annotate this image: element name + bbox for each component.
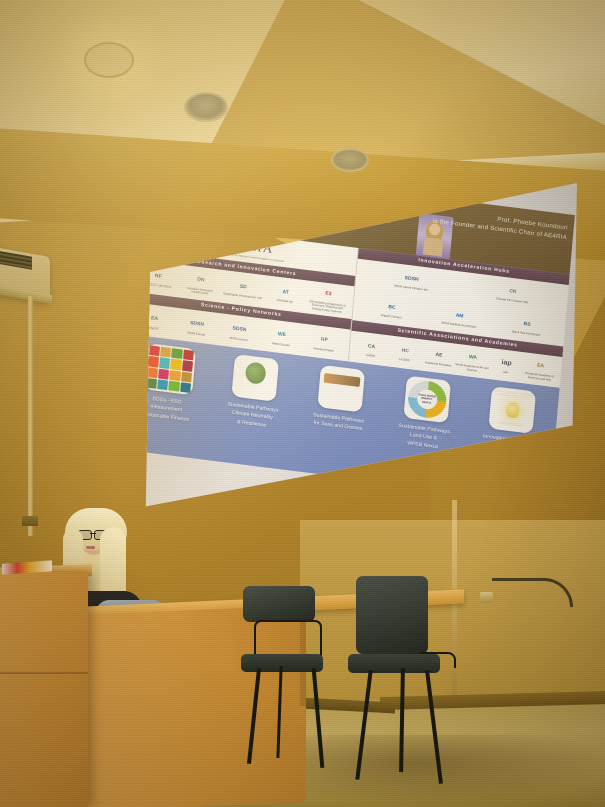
caption-line: Innovation Acceleration [483, 433, 537, 448]
innovation-word-label: Innovation [489, 419, 534, 430]
slide-content: 👥 200 PEOPLE 🛠 100 PROJECTS 🎤 150 [118, 161, 576, 503]
domain-innovation-education-caption: Innovation Acceleration Education Upskil… [481, 433, 537, 464]
nexus-core-label: FOOD WATER ENERGY NEXUS [416, 388, 438, 410]
domain-land-use-wfeb: FOOD WATER ENERGY NEXUS Sustainable Path… [382, 373, 469, 454]
athena-rc-label: ATHENA RC [276, 299, 293, 304]
chair-right-arm [420, 652, 456, 668]
domain-climate-neutrality-caption: Sustainable Pathways Climate Neutrality … [226, 401, 279, 431]
conference-room-photo: 👥 200 PEOPLE 🛠 100 PROJECTS 🎤 150 [0, 0, 605, 807]
climate-tree-icon [232, 354, 280, 402]
sdsn-europe-logo: SDSN SDSN Europe [176, 314, 218, 338]
iap-logo: iap IAP [489, 354, 524, 377]
sdsn-greece-mark: SDSN [230, 321, 248, 338]
iap-mark: iap [497, 355, 515, 372]
chair-left-leg [312, 668, 324, 768]
stat-publications-caption: PUBLICATIONS [303, 215, 359, 226]
aquatic-maritime-accelerator-label: AMVA Maritime Accelerator [441, 322, 476, 330]
sdsn-global-climate-hub-logo: SDSN SDSN Global Climate Hub [391, 269, 431, 293]
domain-seas-oceans: Sustainable Pathways for Seas and Oceans [297, 362, 384, 435]
energy-policy-unit-logo: E3 E3-Modelling Department of Economic, … [307, 284, 350, 314]
aquatic-maritime-accelerator-logo: AM AMVA Maritime Accelerator [439, 306, 479, 330]
hcera-label: HCERA [399, 358, 409, 363]
resilient-planet-logo: RP Resilient Planet [303, 330, 345, 354]
danubius-research-label: Danubius Research Infrastructure [179, 286, 220, 298]
stat-funding: € 500k FUNDING [353, 185, 412, 226]
caeri-logo: CA CAERI [354, 337, 389, 360]
ac-vent [0, 250, 32, 270]
eaere-label: EAERE [149, 326, 159, 331]
energy-policy-unit-label: E3-Modelling Department of Economic, Reg… [307, 300, 348, 315]
stat-projects-value: 100 [202, 204, 259, 223]
water-europe-label: Water Europe [272, 342, 290, 348]
sdsn-global-climate-hub-label: SDSN Global Climate Hub [394, 285, 428, 293]
ocean-ship-icon [317, 365, 365, 413]
downlight-unlit-2-icon [331, 148, 369, 172]
danubius-research-logo: DN Danubius Research Infrastructure [179, 270, 221, 297]
brigaid-connect-logo: BC Brigaid Connect [372, 298, 412, 322]
eaere-logo: EA EAERE [133, 309, 175, 333]
chair-left-back [243, 586, 315, 622]
stat-people-value: 200 [154, 205, 211, 224]
podium [0, 572, 88, 807]
presenter-lips [86, 546, 95, 549]
reflect-laboratory-logo: RF ReFLECT Laboratory [137, 267, 179, 291]
climate-kic-greece-hub-label: Climate KIC Greece Hub [496, 297, 528, 304]
projects-icon: 🛠 [223, 188, 241, 206]
domain-sdg-esg: SDGs - ESG measurement Sustainable Finan… [125, 341, 213, 426]
resilient-planet-mark: RP [315, 332, 333, 349]
caeri-label: CAERI [366, 354, 375, 358]
euro-icon: € [374, 188, 392, 206]
chair-right-leg [355, 670, 372, 780]
screen-surface: 👥 200 PEOPLE 🛠 100 PROJECTS 🎤 150 [137, 183, 577, 513]
sdsn-europe-mark: SDSN [188, 316, 206, 333]
sustainable-development-unit-label: Sustainable Development Unit [223, 293, 262, 301]
sustainable-development-unit-logo: SD Sustainable Development Unit [222, 277, 264, 301]
stat-people-caption: PEOPLE [154, 216, 210, 227]
world-academy-art-science-logo: WA World Academy of Art and Science [455, 348, 491, 374]
stat-projects: 🛠 100 PROJECTS [201, 186, 260, 227]
stat-funding-value: 500k [354, 203, 411, 222]
chair-left-leg [276, 666, 282, 758]
downlight-unlit-1-icon [184, 92, 228, 122]
black-sea-accelerator-logo: BS Black Sea Accelerator [507, 315, 547, 339]
power-outlet-left-icon [22, 516, 38, 526]
stat-publications: 📖 543 PUBLICATIONS [303, 186, 362, 227]
nexus-ring: FOOD WATER ENERGY NEXUS [406, 379, 447, 420]
wall-conduit [28, 296, 33, 536]
athena-rc-logo: AT ATHENA RC [264, 282, 306, 306]
chair-right[interactable] [348, 576, 478, 776]
domain-climate-neutrality: Sustainable Pathways Climate Neutrality … [211, 352, 298, 433]
sdsn-europe-label: SDSN Europe [187, 331, 205, 337]
stat-conferences: 🎤 150 CONFERENCES ORGANIZED [251, 182, 310, 227]
food-water-energy-nexus-icon: FOOD WATER ENERGY NEXUS [403, 375, 451, 423]
world-academy-art-science-label: World Academy of Art and Science [455, 364, 489, 375]
sdsn-greece-label: SDSN Greece [229, 336, 248, 342]
podium-seam [0, 672, 88, 674]
chair-left[interactable] [238, 586, 348, 766]
stat-publications-value: 543 [303, 204, 360, 223]
stat-conferences-value: 150 [252, 200, 309, 219]
water-europe-mark: WE [273, 326, 291, 343]
projection-screen: 👥 200 PEOPLE 🛠 100 PROJECTS 🎤 150 [137, 183, 577, 513]
european-academy-label: European Academy of Sciences and Arts [522, 372, 556, 383]
downlight-lit-icon [84, 42, 134, 78]
caption-line: Education [482, 441, 536, 456]
stat-projects-caption: PROJECTS [201, 215, 257, 226]
chair-right-leg [399, 668, 404, 772]
academia-europaea-logo: AE Academia Europaea [421, 346, 456, 369]
resilient-planet-label: Resilient Planet [313, 347, 333, 353]
hcera-logo: HC HCERA [387, 341, 422, 364]
iap-label: IAP [503, 371, 508, 375]
chair-right-leg [425, 670, 443, 784]
domain-sdg-esg-caption: SDGs - ESG measurement Sustainable Finan… [142, 394, 191, 424]
water-europe-logo: WE Water Europe [261, 325, 303, 349]
academia-europaea-label: Academia Europaea [425, 361, 451, 368]
reflect-laboratory-label: ReFLECT Laboratory [144, 283, 172, 290]
innovation-bulb-icon: Solution Inspiration Intelligence Creati… [489, 386, 537, 434]
chair-left-leg [247, 668, 261, 764]
domain-innovation-education: Solution Inspiration Intelligence Creati… [468, 384, 555, 465]
stat-funding-caption: FUNDING [353, 215, 409, 226]
domain-seas-oceans-caption: Sustainable Pathways for Seas and Oceans [312, 411, 364, 433]
people-icon: 👥 [175, 189, 193, 207]
sdsn-greece-logo: SDSN SDSN Greece [218, 320, 260, 344]
portrait-body [423, 237, 444, 257]
caeri-mark: CA [362, 338, 380, 355]
eaere-mark: EA [145, 310, 163, 327]
microphone-icon: 🎤 [272, 184, 290, 202]
stat-people: 👥 200 PEOPLE [154, 187, 213, 228]
chair-left-arm [254, 620, 322, 658]
sdg-wheel-icon [144, 343, 196, 395]
stat-conferences-caption: CONFERENCES ORGANIZED [251, 212, 308, 228]
lightbulb-icon [505, 402, 519, 419]
innovation-spokes-label: Solution Inspiration Intelligence Creati… [492, 389, 537, 400]
chair-right-back [356, 576, 428, 654]
book-icon: 📖 [324, 188, 342, 206]
danubius-research-mark: DN [192, 272, 210, 289]
caption-line: Upskilling/Reskilling [481, 449, 535, 464]
european-academy-logo: EA European Academy of Sciences and Arts [522, 357, 558, 383]
black-sea-accelerator-label: Black Sea Accelerator [512, 331, 541, 338]
domain-land-use-wfeb-caption: Sustainable Pathways Land Use & WFEB Nex… [397, 422, 450, 452]
climate-kic-greece-hub-logo: CK Climate KIC Greece Hub [493, 282, 533, 306]
brigaid-connect-label: Brigaid Connect [381, 314, 402, 320]
